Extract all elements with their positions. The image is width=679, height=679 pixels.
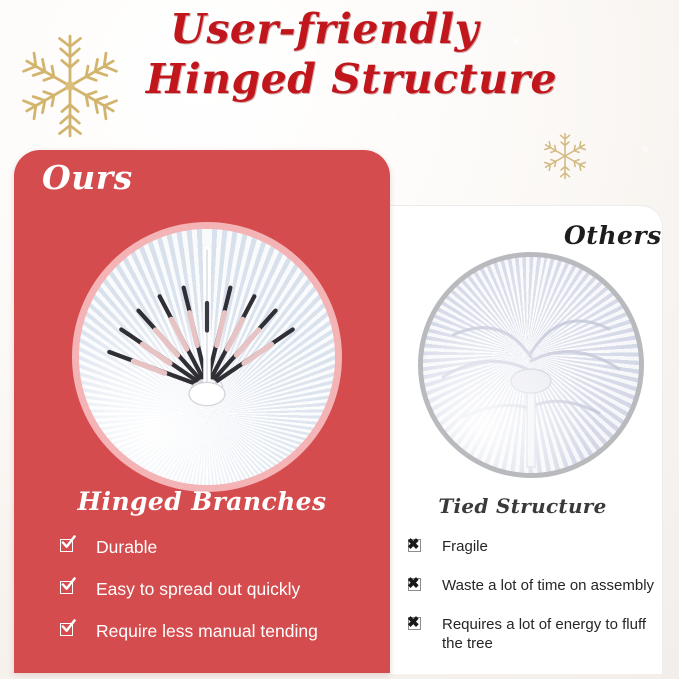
x-mark-icon: ✖	[408, 539, 423, 554]
ours-feature-list: Durable Easy to spread out quickly Requi…	[60, 537, 380, 663]
feature-label: Waste a lot of time on assembly	[442, 576, 654, 596]
hinged-branch-illustration	[79, 229, 335, 485]
list-item: ✖ Fragile	[408, 537, 658, 557]
ours-product-photo	[72, 222, 342, 492]
others-product-photo	[418, 252, 644, 478]
feature-label: Require less manual tending	[96, 621, 318, 642]
checkbox-checked-icon	[60, 623, 77, 640]
list-item: ✖ Waste a lot of time on assembly	[408, 576, 658, 596]
ours-label: Ours	[42, 158, 133, 197]
x-mark-icon: ✖	[408, 578, 423, 593]
checkbox-checked-icon	[60, 539, 77, 556]
others-label: Others	[564, 221, 662, 250]
headline-block: User-friendly Hinged Structure	[0, 8, 679, 100]
list-item: ✖ Requires a lot of energy to fluff the …	[408, 615, 658, 655]
headline-line-1: User-friendly	[0, 8, 679, 51]
feature-label: Easy to spread out quickly	[96, 579, 300, 600]
feature-label: Requires a lot of energy to fluff the tr…	[442, 615, 658, 655]
ours-caption: Hinged Branches	[14, 487, 390, 516]
photo-sheen	[423, 257, 639, 473]
feature-label: Durable	[96, 537, 157, 558]
checkbox-checked-icon	[60, 581, 77, 598]
x-mark-icon: ✖	[408, 617, 423, 632]
feature-label: Fragile	[442, 537, 488, 557]
others-caption: Tied Structure	[390, 494, 655, 518]
headline-line-2: Hinged Structure	[0, 58, 679, 101]
list-item: Durable	[60, 537, 380, 558]
others-feature-list: ✖ Fragile ✖ Waste a lot of time on assem…	[408, 537, 658, 673]
list-item: Require less manual tending	[60, 621, 380, 642]
list-item: Easy to spread out quickly	[60, 579, 380, 600]
